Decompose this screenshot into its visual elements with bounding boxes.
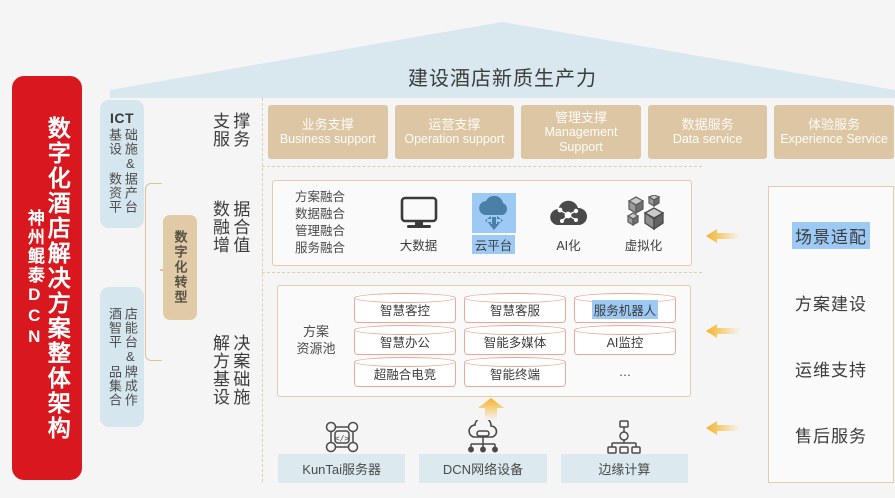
- fusion-label: 管理融合: [295, 223, 381, 240]
- hotel-platform-box: 店能台&牌成作 酒智平 品集合: [100, 287, 144, 427]
- resource-pool-item[interactable]: AI监控: [574, 328, 676, 355]
- architecture-diagram: 数字化酒店解决方案整体架构 神州鲲泰DCN 建设酒店新质生产力 ICT 础施&据…: [0, 0, 895, 498]
- upward-flow-arrow-icon: [477, 398, 505, 420]
- row-label-infra-col-right: 决案础施: [229, 334, 249, 406]
- left-arrow-icon-2: [706, 323, 740, 339]
- resource-pool-item[interactable]: 智能多媒体: [464, 328, 566, 355]
- infrastructure-label: KunTai服务器: [278, 454, 405, 483]
- support-service-cn: 业务支撑: [302, 117, 354, 132]
- ict-platform-box: ICT 础施&据产台 基设 数资平: [100, 100, 144, 228]
- monitor-icon: [399, 193, 439, 233]
- left-arrow-icon-3: [706, 420, 740, 436]
- bracket-connector: [145, 183, 162, 361]
- ict-label: ICT: [100, 110, 144, 126]
- resource-pool-item-label: …: [619, 365, 632, 379]
- server-mesh-icon: </>: [322, 420, 362, 454]
- digital-transformation-label: 数字化转型: [171, 230, 190, 305]
- row-label-infrastructure: 决案础施 解方基设: [200, 320, 258, 420]
- banner-sub-title: 神州鲲泰DCN: [25, 209, 43, 348]
- support-service-card[interactable]: 运营支撑Operation support: [395, 105, 515, 159]
- resource-pool-item[interactable]: 智慧客服: [464, 296, 566, 323]
- resource-pool-item[interactable]: 服务机器人: [574, 296, 676, 323]
- hotel-text-col-right: 店能台&牌成作: [122, 307, 138, 407]
- resource-pool-title: 方案 资源池: [278, 324, 354, 358]
- infrastructure-row: </>KunTai服务器DCN网络设备边缘计算: [278, 420, 688, 486]
- fusion-icon-item[interactable]: 大数据: [386, 193, 452, 254]
- service-lifecycle-item[interactable]: 售后服务: [795, 422, 867, 447]
- solution-resource-pool-panel: 方案 资源池 智慧客控智慧客服服务机器人智慧办公智能多媒体AI监控超融合电竞智能…: [277, 285, 691, 397]
- infrastructure-card[interactable]: 边缘计算: [561, 420, 688, 486]
- resource-pool-grid: 智慧客控智慧客服服务机器人智慧办公智能多媒体AI监控超融合电竞智能终端…: [354, 296, 690, 387]
- cloud-sync-icon: [472, 193, 516, 233]
- support-service-en: Operation support: [404, 132, 504, 147]
- support-service-cn: 运营支撑: [428, 117, 480, 132]
- fusion-icon-item[interactable]: 云平台: [461, 193, 527, 254]
- resource-pool-item-label: 超融合电竞: [374, 364, 437, 383]
- resource-pool-item[interactable]: 智慧客控: [354, 296, 456, 323]
- horizontal-divider-1: [262, 166, 702, 167]
- support-service-en: Data service: [673, 132, 742, 147]
- fusion-icon-label: 大数据: [400, 235, 438, 254]
- row-label-data-fusion: 据合值 数融增: [200, 190, 258, 264]
- resource-pool-item-label: 智慧客控: [380, 300, 430, 319]
- row-label-fusion-col-left: 数融增: [209, 200, 229, 254]
- infrastructure-card[interactable]: </>KunTai服务器: [278, 420, 405, 486]
- resource-pool-item[interactable]: 超融合电竞: [354, 360, 456, 387]
- data-fusion-panel: 方案融合数据融合管理融合服务融合 大数据云平台AI化虚拟化: [272, 180, 692, 266]
- infrastructure-card[interactable]: DCN网络设备: [419, 420, 546, 486]
- resource-pool-item-label: 智能多媒体: [484, 332, 547, 351]
- support-service-card[interactable]: 业务支撑Business support: [268, 105, 388, 159]
- row-label-support-service: 撑务 支服: [200, 104, 258, 156]
- fusion-icon-item[interactable]: AI化: [536, 193, 602, 254]
- resource-pool-item[interactable]: 智能终端: [464, 360, 566, 387]
- support-service-en: Management Support: [521, 125, 641, 154]
- infrastructure-label: 边缘计算: [561, 454, 688, 483]
- horizontal-divider-2: [262, 272, 702, 273]
- resource-pool-item-label: AI监控: [607, 332, 644, 351]
- fusion-label: 服务融合: [295, 240, 381, 257]
- row-label-support-col-right: 撑务: [229, 112, 249, 148]
- left-arrow-icon-1: [706, 228, 740, 244]
- ict-text-col-right: 础施&据产台: [122, 128, 138, 214]
- resource-pool-title-line2: 资源池: [278, 341, 354, 358]
- fusion-label-list: 方案融合数据融合管理融合服务融合: [273, 189, 381, 257]
- roof-shape: 建设酒店新质生产力: [110, 22, 895, 98]
- fusion-icon-item[interactable]: 虚拟化: [611, 193, 677, 254]
- svg-text:</>: </>: [334, 434, 349, 443]
- support-service-card[interactable]: 管理支撑Management Support: [521, 105, 641, 159]
- fusion-label: 方案融合: [295, 189, 381, 206]
- service-lifecycle-item[interactable]: 场景适配: [792, 222, 870, 249]
- fusion-icon-list: 大数据云平台AI化虚拟化: [381, 193, 691, 254]
- support-services-row: 业务支撑Business support运营支撑Operation suppor…: [268, 105, 894, 159]
- infrastructure-label: DCN网络设备: [419, 454, 546, 483]
- resource-pool-item-label: 智慧办公: [380, 332, 430, 351]
- cloud-network-icon: [462, 420, 504, 454]
- resource-pool-item-label: 智能终端: [490, 364, 540, 383]
- support-service-card[interactable]: 数据服务Data service: [648, 105, 768, 159]
- service-lifecycle-item[interactable]: 方案建设: [795, 290, 867, 315]
- cubes-icon: [623, 193, 665, 233]
- resource-pool-ellipsis: …: [574, 360, 676, 385]
- support-service-card[interactable]: 体验服务Experience Service: [774, 105, 894, 159]
- resource-pool-item[interactable]: 智慧办公: [354, 328, 456, 355]
- resource-pool-item-label: 服务机器人: [592, 300, 659, 319]
- fusion-label: 数据融合: [295, 206, 381, 223]
- resource-pool-title-line1: 方案: [278, 324, 354, 341]
- edge-node-icon: [605, 420, 643, 454]
- banner-main-title: 数字化酒店解决方案整体架构: [45, 116, 69, 441]
- row-label-support-col-left: 支服: [209, 112, 229, 148]
- service-lifecycle-item[interactable]: 运维支持: [795, 356, 867, 381]
- resource-pool-item-label: 智慧客服: [490, 300, 540, 319]
- vertical-divider: [262, 98, 263, 482]
- support-service-en: Experience Service: [780, 132, 888, 147]
- ict-text-col-left: 基设 数资平: [106, 128, 122, 214]
- title-banner: 数字化酒店解决方案整体架构 神州鲲泰DCN: [12, 76, 82, 480]
- service-lifecycle-panel: 场景适配方案建设运维支持售后服务: [768, 186, 894, 483]
- row-label-infra-col-left: 解方基设: [209, 334, 229, 406]
- roof-title: 建设酒店新质生产力: [110, 62, 895, 91]
- support-service-cn: 管理支撑: [555, 110, 607, 125]
- fusion-icon-label: 云平台: [472, 235, 516, 254]
- row-label-fusion-col-right: 据合值: [229, 200, 249, 254]
- fusion-icon-label: 虚拟化: [625, 235, 663, 254]
- digital-transformation-box: 数字化转型: [163, 215, 197, 320]
- support-service-cn: 数据服务: [682, 117, 734, 132]
- support-service-cn: 体验服务: [808, 117, 860, 132]
- fusion-icon-label: AI化: [556, 235, 580, 254]
- support-service-en: Business support: [280, 132, 376, 147]
- hotel-text-col-left: 酒智平 品集合: [106, 307, 122, 407]
- ai-cloud-icon: [547, 193, 591, 233]
